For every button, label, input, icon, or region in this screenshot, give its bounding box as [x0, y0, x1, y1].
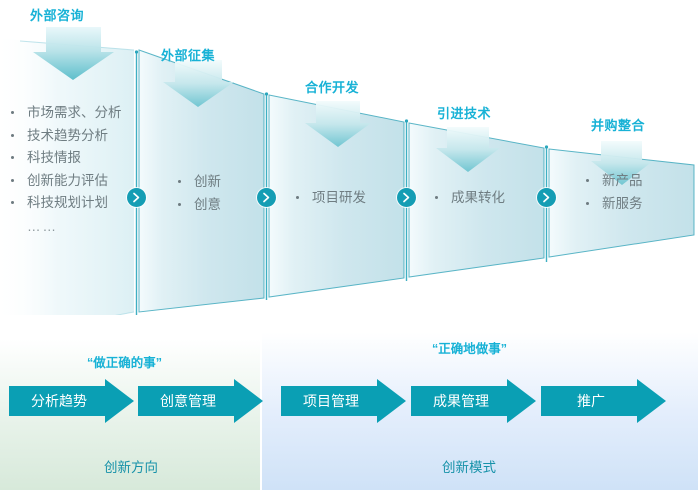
list-item-label: 技术趋势分析	[27, 129, 108, 143]
bullet-dot-icon	[296, 196, 299, 199]
list-item: 创意	[178, 198, 221, 212]
list-item: 新产品	[586, 174, 643, 188]
list-item-label: 新产品	[602, 174, 643, 188]
inflow-arrow-2	[163, 60, 234, 107]
list-item-label: 新服务	[602, 197, 643, 211]
stage-items-ellipsis: ……	[27, 219, 122, 234]
list-item-label: 创意	[194, 198, 221, 212]
divider-line-caps	[135, 50, 548, 148]
process-step-4[interactable]: 成果管理	[411, 379, 536, 423]
process-step-3[interactable]: 项目管理	[281, 379, 406, 423]
list-item: 技术趋势分析	[11, 129, 122, 143]
funnel-connector-4[interactable]	[537, 188, 556, 207]
list-item: 市场需求、分析	[11, 106, 122, 120]
chevron-right-icon	[132, 192, 141, 203]
panel-caption-right: 创新模式	[442, 456, 496, 476]
bullet-dot-icon	[435, 196, 438, 199]
arrow-shape	[281, 379, 406, 423]
list-item-label: 市场需求、分析	[27, 106, 122, 120]
bullet-dot-icon	[586, 179, 589, 182]
bullet-dot-icon	[11, 134, 14, 137]
process-step-5[interactable]: 推广	[541, 379, 666, 423]
stage-heading-3: 合作开发	[305, 77, 359, 96]
stage-heading-5: 并购整合	[591, 115, 645, 134]
list-item-label: 成果转化	[451, 191, 505, 205]
chevron-right-icon	[542, 192, 551, 203]
arrow-shape	[9, 379, 134, 423]
bullet-dot-icon	[586, 202, 589, 205]
arrow-shape	[411, 379, 536, 423]
stage-items-2: 创新 创意	[178, 175, 221, 220]
bullet-dot-icon	[11, 111, 14, 114]
list-item-label: 项目研发	[312, 191, 366, 205]
stage-heading-4: 引进技术	[437, 103, 491, 122]
funnel-connector-3[interactable]	[397, 188, 416, 207]
bullet-dot-icon	[178, 180, 181, 183]
stage-items-3: 项目研发	[296, 191, 366, 214]
funnel-connector-2[interactable]	[257, 188, 276, 207]
inflow-arrow-1	[33, 27, 114, 80]
panel-caption-left: 创新方向	[104, 456, 158, 476]
list-item: 新服务	[586, 197, 643, 211]
list-item: 科技情报	[11, 151, 122, 165]
list-item: 项目研发	[296, 191, 366, 205]
panel-quote-left: “做正确的事”	[87, 352, 162, 371]
stage-items-5: 新产品 新服务	[586, 174, 643, 219]
stage-heading-1: 外部咨询	[30, 5, 84, 24]
list-item-label: 创新	[194, 175, 221, 189]
process-step-2[interactable]: 创意管理	[138, 379, 263, 423]
panel-quote-right: “正确地做事”	[432, 338, 507, 357]
diagram-canvas: 外部咨询 外部征集 合作开发 引进技术 并购整合 市场需求、分析 技术趋势分析 …	[0, 0, 698, 490]
bullet-dot-icon	[178, 203, 181, 206]
list-item: 科技规划计划	[11, 196, 122, 210]
list-item: 创新能力评估	[11, 174, 122, 188]
list-item: 创新	[178, 175, 221, 189]
bullet-dot-icon	[11, 156, 14, 159]
inflow-arrow-4	[436, 127, 500, 172]
arrow-shape	[138, 379, 263, 423]
stage-items-1: 市场需求、分析 技术趋势分析 科技情报 创新能力评估 科技规划计划 ……	[11, 106, 122, 234]
funnel-connector-1[interactable]	[127, 188, 146, 207]
process-step-1[interactable]: 分析趋势	[9, 379, 134, 423]
arrow-shape	[541, 379, 666, 423]
bullet-dot-icon	[11, 179, 14, 182]
inflow-arrow-3	[305, 101, 371, 147]
list-item-label: 科技情报	[27, 151, 81, 165]
bullet-dot-icon	[11, 201, 14, 204]
list-item-label: 科技规划计划	[27, 196, 108, 210]
chevron-right-icon	[402, 192, 411, 203]
chevron-right-icon	[262, 192, 271, 203]
stage-items-4: 成果转化	[435, 191, 505, 214]
stage-heading-2: 外部征集	[161, 45, 215, 64]
list-item-label: 创新能力评估	[27, 174, 108, 188]
list-item: 成果转化	[435, 191, 505, 205]
